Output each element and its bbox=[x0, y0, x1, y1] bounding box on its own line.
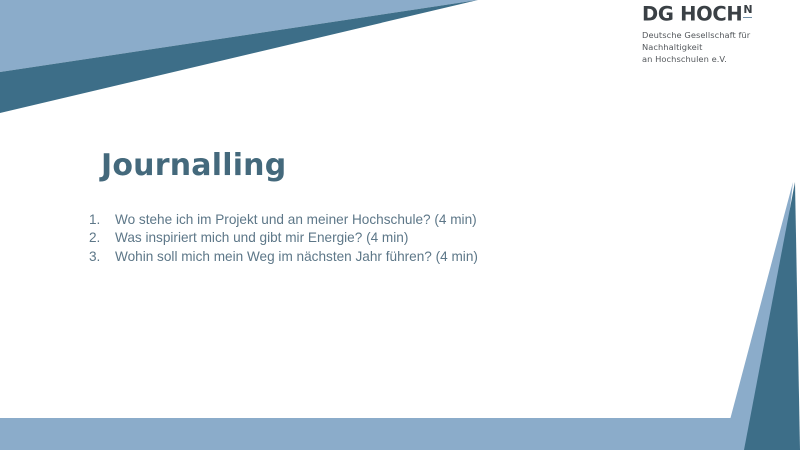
logo-subtitle-line-1: Deutsche Gesellschaft für Nachhaltigkeit bbox=[642, 29, 794, 53]
list-item-text: Was inspiriert mich und gibt mir Energie… bbox=[115, 229, 646, 247]
list-item-number: 3. bbox=[86, 248, 115, 266]
logo-subtitle-line-2: an Hochschulen e.V. bbox=[642, 53, 794, 65]
list-item: 3. Wohin soll mich mein Weg im nächsten … bbox=[86, 248, 646, 266]
list-item-text: Wo stehe ich im Projekt und an meiner Ho… bbox=[115, 211, 646, 229]
page-title: Journalling bbox=[101, 149, 286, 182]
top-left-dark-band bbox=[0, 0, 478, 113]
logo-wordmark: DG HOCHN bbox=[642, 4, 794, 24]
right-light-wedge bbox=[722, 182, 793, 450]
bottom-light-bar bbox=[0, 418, 742, 450]
logo-subtitle: Deutsche Gesellschaft für Nachhaltigkeit… bbox=[642, 29, 794, 65]
top-left-light-band bbox=[0, 0, 478, 72]
list-item: 2. Was inspiriert mich und gibt mir Ener… bbox=[86, 229, 646, 247]
list-item: 1. Wo stehe ich im Projekt und an meiner… bbox=[86, 211, 646, 229]
slide: DG HOCHN Deutsche Gesellschaft für Nachh… bbox=[0, 0, 800, 450]
dg-hoch-logo: DG HOCHN Deutsche Gesellschaft für Nachh… bbox=[642, 4, 794, 65]
right-dark-wedge bbox=[744, 182, 800, 450]
numbered-list: 1. Wo stehe ich im Projekt und an meiner… bbox=[86, 211, 646, 266]
list-item-number: 2. bbox=[86, 229, 115, 247]
list-item-text: Wohin soll mich mein Weg im nächsten Jah… bbox=[115, 248, 646, 266]
logo-superscript-n: N bbox=[743, 3, 752, 18]
logo-wordmark-main: DG HOCH bbox=[642, 3, 742, 26]
list-item-number: 1. bbox=[86, 211, 115, 229]
